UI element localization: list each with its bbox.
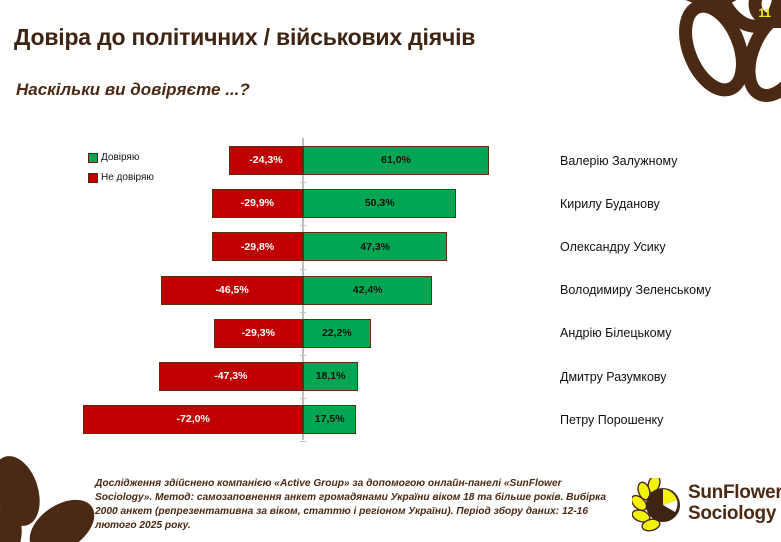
bar-trust[interactable]: 50,3% xyxy=(303,189,456,218)
bar-distrust[interactable]: -29,9% xyxy=(212,189,303,218)
axis-tick xyxy=(300,312,306,313)
logo-wordmark: SunFlower Sociology xyxy=(688,482,781,525)
bar-distrust[interactable]: -47,3% xyxy=(159,362,303,391)
bar-value-label: 47,3% xyxy=(360,242,390,253)
bar-value-label: 22,2% xyxy=(322,328,352,339)
axis-tick xyxy=(300,182,306,183)
chart-bar-row: -46,5%42,4% xyxy=(0,276,540,305)
category-label: Олександру Усику xyxy=(560,232,666,261)
page-subtitle: Наскільки ви довіряєте ...? xyxy=(16,80,250,100)
chart-bar-row: -29,9%50,3% xyxy=(0,189,540,218)
bar-trust[interactable]: 61,0% xyxy=(303,146,489,175)
sunflower-sociology-logo: SunFlower Sociology xyxy=(632,476,778,534)
chart-bar-row: -72,0%17,5% xyxy=(0,405,540,434)
logo-line-1: SunFlower xyxy=(688,482,781,503)
category-label: Андрію Білецькому xyxy=(560,319,672,348)
category-label: Володимиру Зеленському xyxy=(560,276,711,305)
axis-tick xyxy=(300,441,306,442)
bar-trust[interactable]: 18,1% xyxy=(303,362,358,391)
bar-distrust[interactable]: -29,3% xyxy=(214,319,303,348)
axis-tick xyxy=(300,269,306,270)
bar-value-label: -47,3% xyxy=(214,371,247,382)
flower-solid-decoration-icon xyxy=(0,453,105,542)
bar-value-label: -72,0% xyxy=(177,414,210,425)
methodology-footnote: Дослідження здійснено компанією «Active … xyxy=(95,477,611,533)
category-label: Дмитру Разумкову xyxy=(560,362,667,391)
category-label-column: Валерію ЗалужномуКирилу БудановуОлександ… xyxy=(548,132,781,444)
chart-bar-row: -47,3%18,1% xyxy=(0,362,540,391)
category-label: Кирилу Буданову xyxy=(560,189,660,218)
bar-distrust[interactable]: -72,0% xyxy=(83,405,303,434)
page-number: 11 xyxy=(758,6,771,20)
bar-value-label: -29,3% xyxy=(242,328,275,339)
chart-bar-row: -24,3%61,0% xyxy=(0,146,540,175)
bar-value-label: 18,1% xyxy=(316,371,346,382)
bar-value-label: -24,3% xyxy=(249,155,282,166)
bar-value-label: -46,5% xyxy=(215,285,248,296)
bar-value-label: 42,4% xyxy=(353,285,383,296)
page-title: Довіра до політичних / військових діячів xyxy=(14,24,475,51)
logo-line-2: Sociology xyxy=(688,503,781,524)
bar-trust[interactable]: 42,4% xyxy=(303,276,432,305)
axis-tick xyxy=(300,355,306,356)
bar-distrust[interactable]: -46,5% xyxy=(161,276,303,305)
chart-bar-row: -29,3%22,2% xyxy=(0,319,540,348)
axis-tick xyxy=(300,398,306,399)
bar-trust[interactable]: 47,3% xyxy=(303,232,447,261)
bar-value-label: -29,8% xyxy=(241,242,274,253)
bar-distrust[interactable]: -29,8% xyxy=(212,232,303,261)
bar-value-label: 17,5% xyxy=(315,414,345,425)
bar-value-label: 50,3% xyxy=(365,198,395,209)
bar-value-label: 61,0% xyxy=(381,155,411,166)
category-label: Петру Порошенку xyxy=(560,405,663,434)
slide-canvas: 11 Довіра до політичних / військових дія… xyxy=(0,0,781,542)
category-label: Валерію Залужному xyxy=(560,146,678,175)
bar-trust[interactable]: 17,5% xyxy=(303,405,356,434)
chart-bar-row: -29,8%47,3% xyxy=(0,232,540,261)
sunflower-logo-icon xyxy=(632,478,686,532)
bar-value-label: -29,9% xyxy=(241,198,274,209)
bar-distrust[interactable]: -24,3% xyxy=(229,146,303,175)
bar-trust[interactable]: 22,2% xyxy=(303,319,371,348)
chart-plot-area: -24,3%61,0%-29,9%50,3%-29,8%47,3%-46,5%4… xyxy=(0,132,540,444)
axis-tick xyxy=(300,225,306,226)
